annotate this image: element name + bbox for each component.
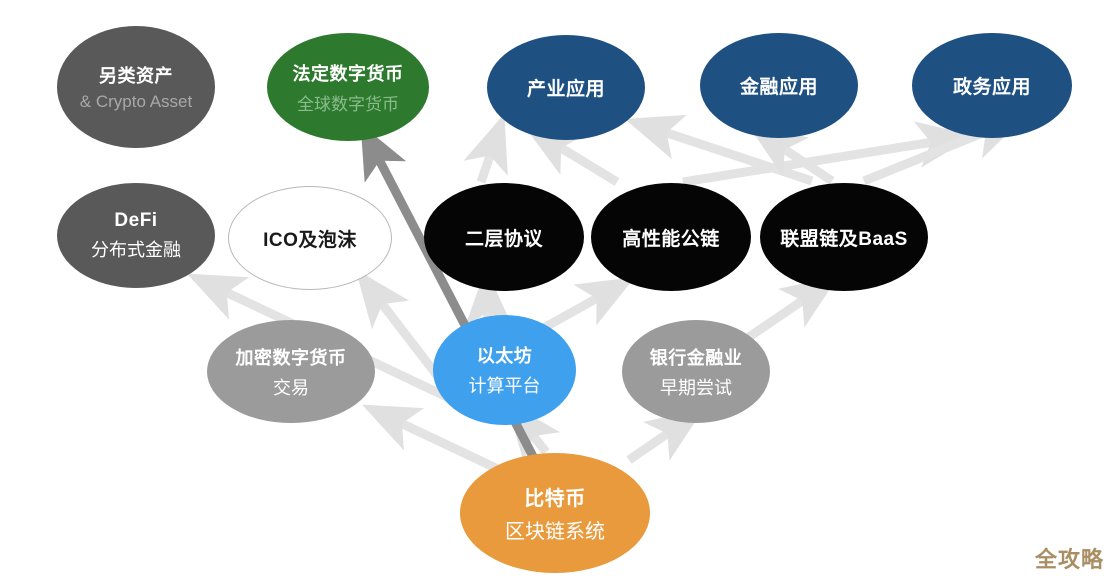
node-defi[interactable]: DeFi 分布式金融 <box>57 183 215 288</box>
node-alt-assets[interactable]: 另类资产 & Crypto Asset <box>57 26 215 148</box>
edge-layer2-to-industry <box>481 141 495 182</box>
node-label-primary: DeFi <box>114 210 157 232</box>
node-label-secondary: 分布式金融 <box>91 236 181 262</box>
node-ethereum-platform[interactable]: 以太坊 计算平台 <box>433 315 576 425</box>
edge-high-performance-chain-to-industry <box>548 140 617 182</box>
node-label-secondary: 交易 <box>273 374 309 400</box>
node-bank-early-attempt[interactable]: 银行金融业 早期尝试 <box>622 320 770 423</box>
node-financial-application[interactable]: 金融应用 <box>700 33 858 138</box>
edge-bitcoin-to-bank <box>629 425 680 460</box>
node-label-primary: 比特币 <box>524 482 586 511</box>
node-layer2-protocol[interactable]: 二层协议 <box>424 183 584 291</box>
node-label-secondary: 计算平台 <box>469 372 541 398</box>
edge-ethereum-to-layer2 <box>487 297 488 318</box>
node-label-secondary: & Crypto Asset <box>80 92 192 112</box>
node-label-primary: 银行金融业 <box>650 344 743 370</box>
node-consortium-chain-baas[interactable]: 联盟链及BaaS <box>760 183 928 291</box>
node-crypto-trading[interactable]: 加密数字货币 交易 <box>207 320 375 423</box>
node-label-primary: 联盟链及BaaS <box>780 224 908 251</box>
node-label-primary: 另类资产 <box>99 62 173 88</box>
node-label-primary: 以太坊 <box>477 342 533 368</box>
node-label-primary: 高性能公链 <box>622 224 720 251</box>
diagram-canvas: 另类资产 & Crypto Asset 法定数字货币 全球数字货币 产业应用 金… <box>0 0 1112 580</box>
edge-bitcoin-to-crypto-trading <box>388 417 500 470</box>
node-label-secondary: 早期尝试 <box>660 374 732 400</box>
node-label-primary: 产业应用 <box>527 74 605 101</box>
edge-ethereum-to-high-performance-chain <box>540 291 610 330</box>
node-label-secondary: 全球数字货币 <box>297 90 399 115</box>
watermark: 全攻略 <box>1035 542 1104 574</box>
node-high-performance-chain[interactable]: 高性能公链 <box>591 183 751 291</box>
node-label-primary: ICO及泡沫 <box>263 225 357 252</box>
node-bitcoin-blockchain[interactable]: 比特币 区块链系统 <box>460 453 650 573</box>
node-label-primary: 加密数字货币 <box>236 344 347 370</box>
node-label-primary: 二层协议 <box>465 224 543 251</box>
node-fiat-digital-currency[interactable]: 法定数字货币 全球数字货币 <box>267 33 429 141</box>
node-government-application[interactable]: 政务应用 <box>912 33 1072 138</box>
node-industry-application[interactable]: 产业应用 <box>487 35 645 140</box>
node-label-secondary: 区块链系统 <box>505 515 605 544</box>
node-label-primary: 法定数字货币 <box>293 60 404 86</box>
node-label-primary: 金融应用 <box>740 72 818 99</box>
node-ico-bubble[interactable]: ICO及泡沫 <box>228 186 392 290</box>
node-label-primary: 政务应用 <box>953 72 1031 99</box>
